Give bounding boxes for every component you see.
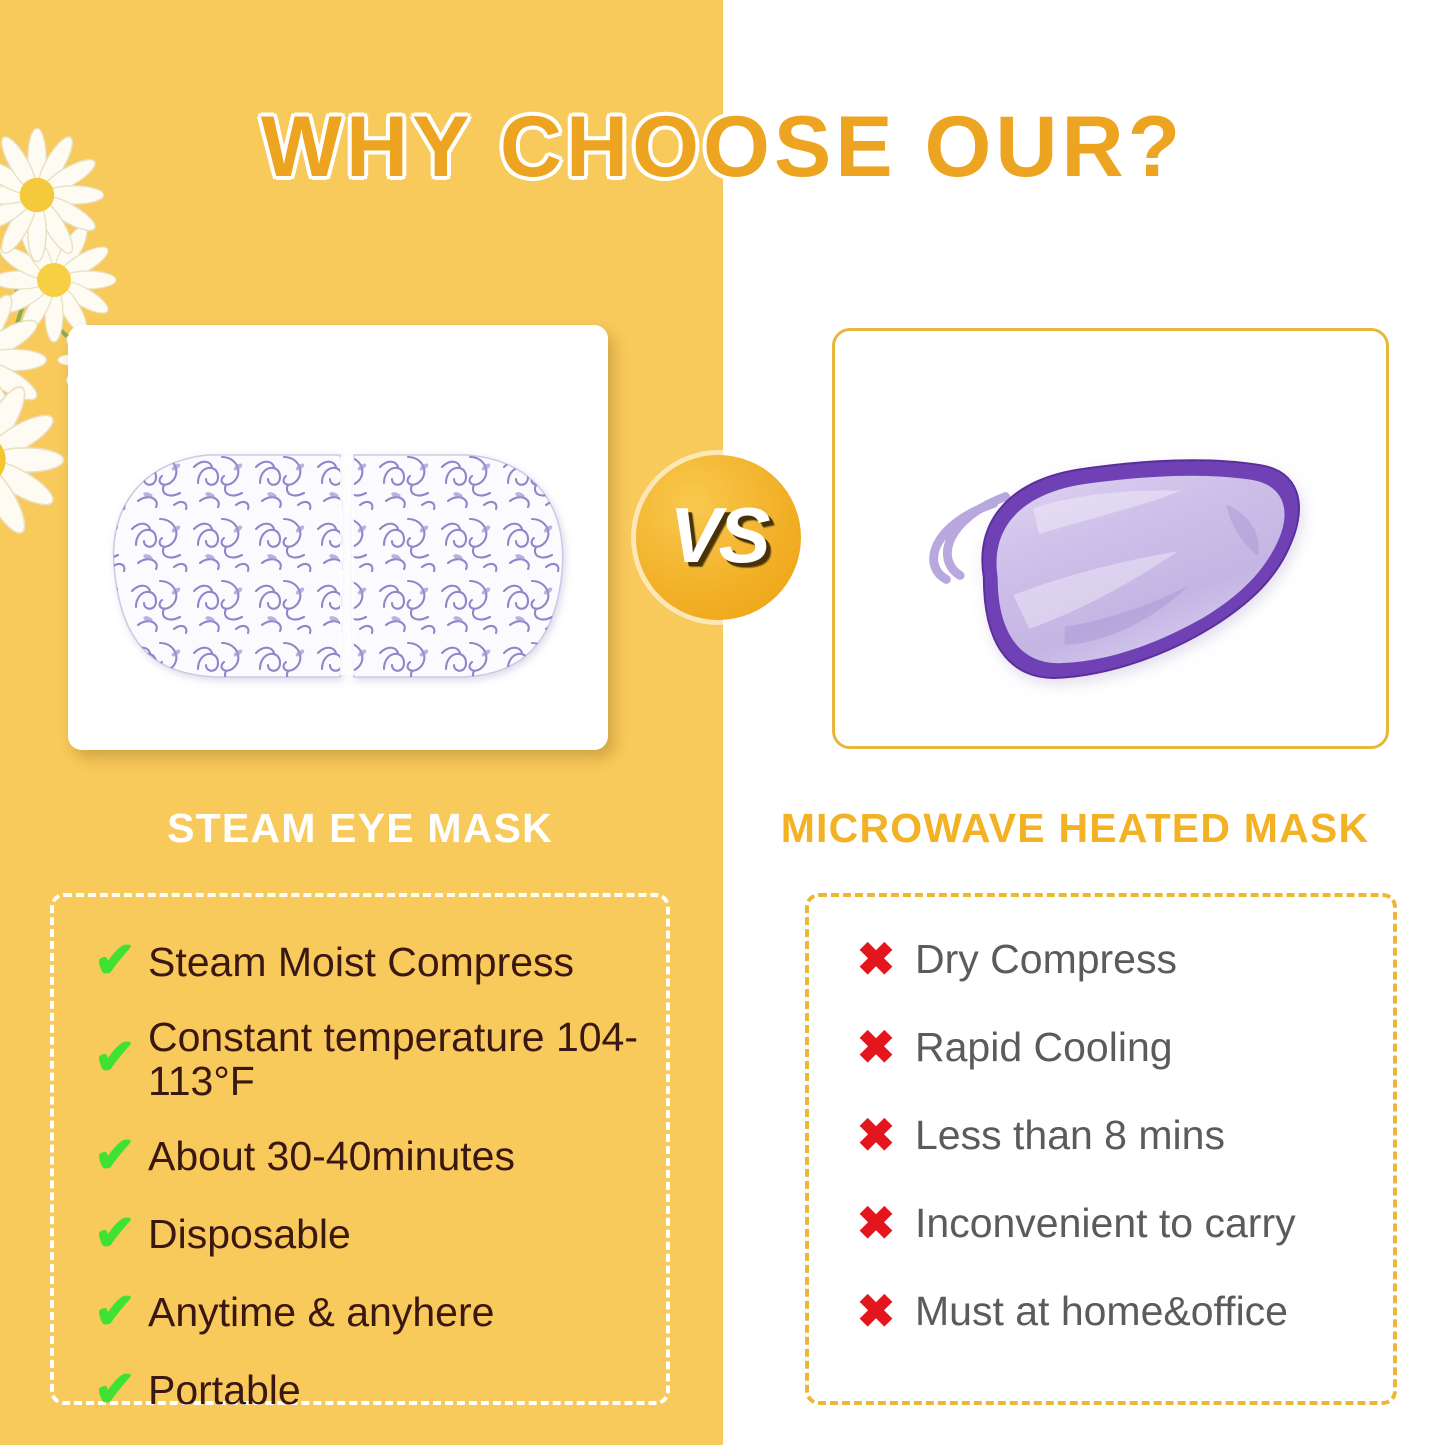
caption-steam-eye-mask: STEAM EYE MASK <box>40 805 680 852</box>
list-item: ✔ About 30-40minutes <box>82 1132 646 1182</box>
cross-icon: ✖ <box>837 937 915 983</box>
check-icon: ✔ <box>82 1132 148 1182</box>
microwave-heated-mask-image <box>835 331 1386 746</box>
list-item: ✔ Steam Moist Compress <box>82 937 646 987</box>
feature-label: Inconvenient to carry <box>915 1201 1296 1246</box>
product-card-microwave-heated-mask <box>832 328 1389 749</box>
feature-label: Dry Compress <box>915 937 1177 982</box>
feature-label: About 30-40minutes <box>148 1134 515 1178</box>
list-item: ✖ Dry Compress <box>837 937 1373 983</box>
feature-box-microwave-heated-mask: ✖ Dry Compress ✖ Rapid Cooling ✖ Less th… <box>805 893 1397 1405</box>
steam-eye-mask-image <box>68 325 608 750</box>
list-item: ✖ Rapid Cooling <box>837 1025 1373 1071</box>
feature-label: Disposable <box>148 1212 351 1256</box>
cross-icon: ✖ <box>837 1289 915 1335</box>
feature-label: Must at home&office <box>915 1289 1288 1334</box>
caption-microwave-heated-mask: MICROWAVE HEATED MASK <box>730 805 1420 852</box>
feature-list-steam-eye-mask: ✔ Steam Moist Compress ✔ Constant temper… <box>82 937 646 1416</box>
check-icon: ✔ <box>82 1034 148 1084</box>
feature-box-steam-eye-mask: ✔ Steam Moist Compress ✔ Constant temper… <box>50 893 670 1405</box>
page-title: WHY CHOOSE OUR? <box>0 98 1445 197</box>
cross-icon: ✖ <box>837 1201 915 1247</box>
product-card-steam-eye-mask <box>68 325 608 750</box>
feature-label: Anytime & anyhere <box>148 1290 494 1334</box>
feature-label: Rapid Cooling <box>915 1025 1173 1070</box>
list-item: ✖ Inconvenient to carry <box>837 1201 1373 1247</box>
versus-badge: VS <box>636 455 801 620</box>
infographic-page: WHY CHOOSE OUR? <box>0 0 1445 1445</box>
cross-icon: ✖ <box>837 1113 915 1159</box>
list-item: ✔ Disposable <box>82 1210 646 1260</box>
check-icon: ✔ <box>82 1366 148 1416</box>
feature-list-microwave-heated-mask: ✖ Dry Compress ✖ Rapid Cooling ✖ Less th… <box>837 937 1373 1335</box>
list-item: ✖ Must at home&office <box>837 1289 1373 1335</box>
check-icon: ✔ <box>82 1210 148 1260</box>
list-item: ✔ Constant temperature 104-113°F <box>82 1015 646 1104</box>
list-item: ✔ Portable <box>82 1366 646 1416</box>
list-item: ✖ Less than 8 mins <box>837 1113 1373 1159</box>
feature-label: Steam Moist Compress <box>148 940 574 984</box>
cross-icon: ✖ <box>837 1025 915 1071</box>
check-icon: ✔ <box>82 937 148 987</box>
feature-label: Portable <box>148 1368 301 1412</box>
check-icon: ✔ <box>82 1288 148 1338</box>
versus-label: VS <box>669 490 767 581</box>
feature-label: Less than 8 mins <box>915 1113 1225 1158</box>
list-item: ✔ Anytime & anyhere <box>82 1288 646 1338</box>
feature-label: Constant temperature 104-113°F <box>148 1015 646 1104</box>
